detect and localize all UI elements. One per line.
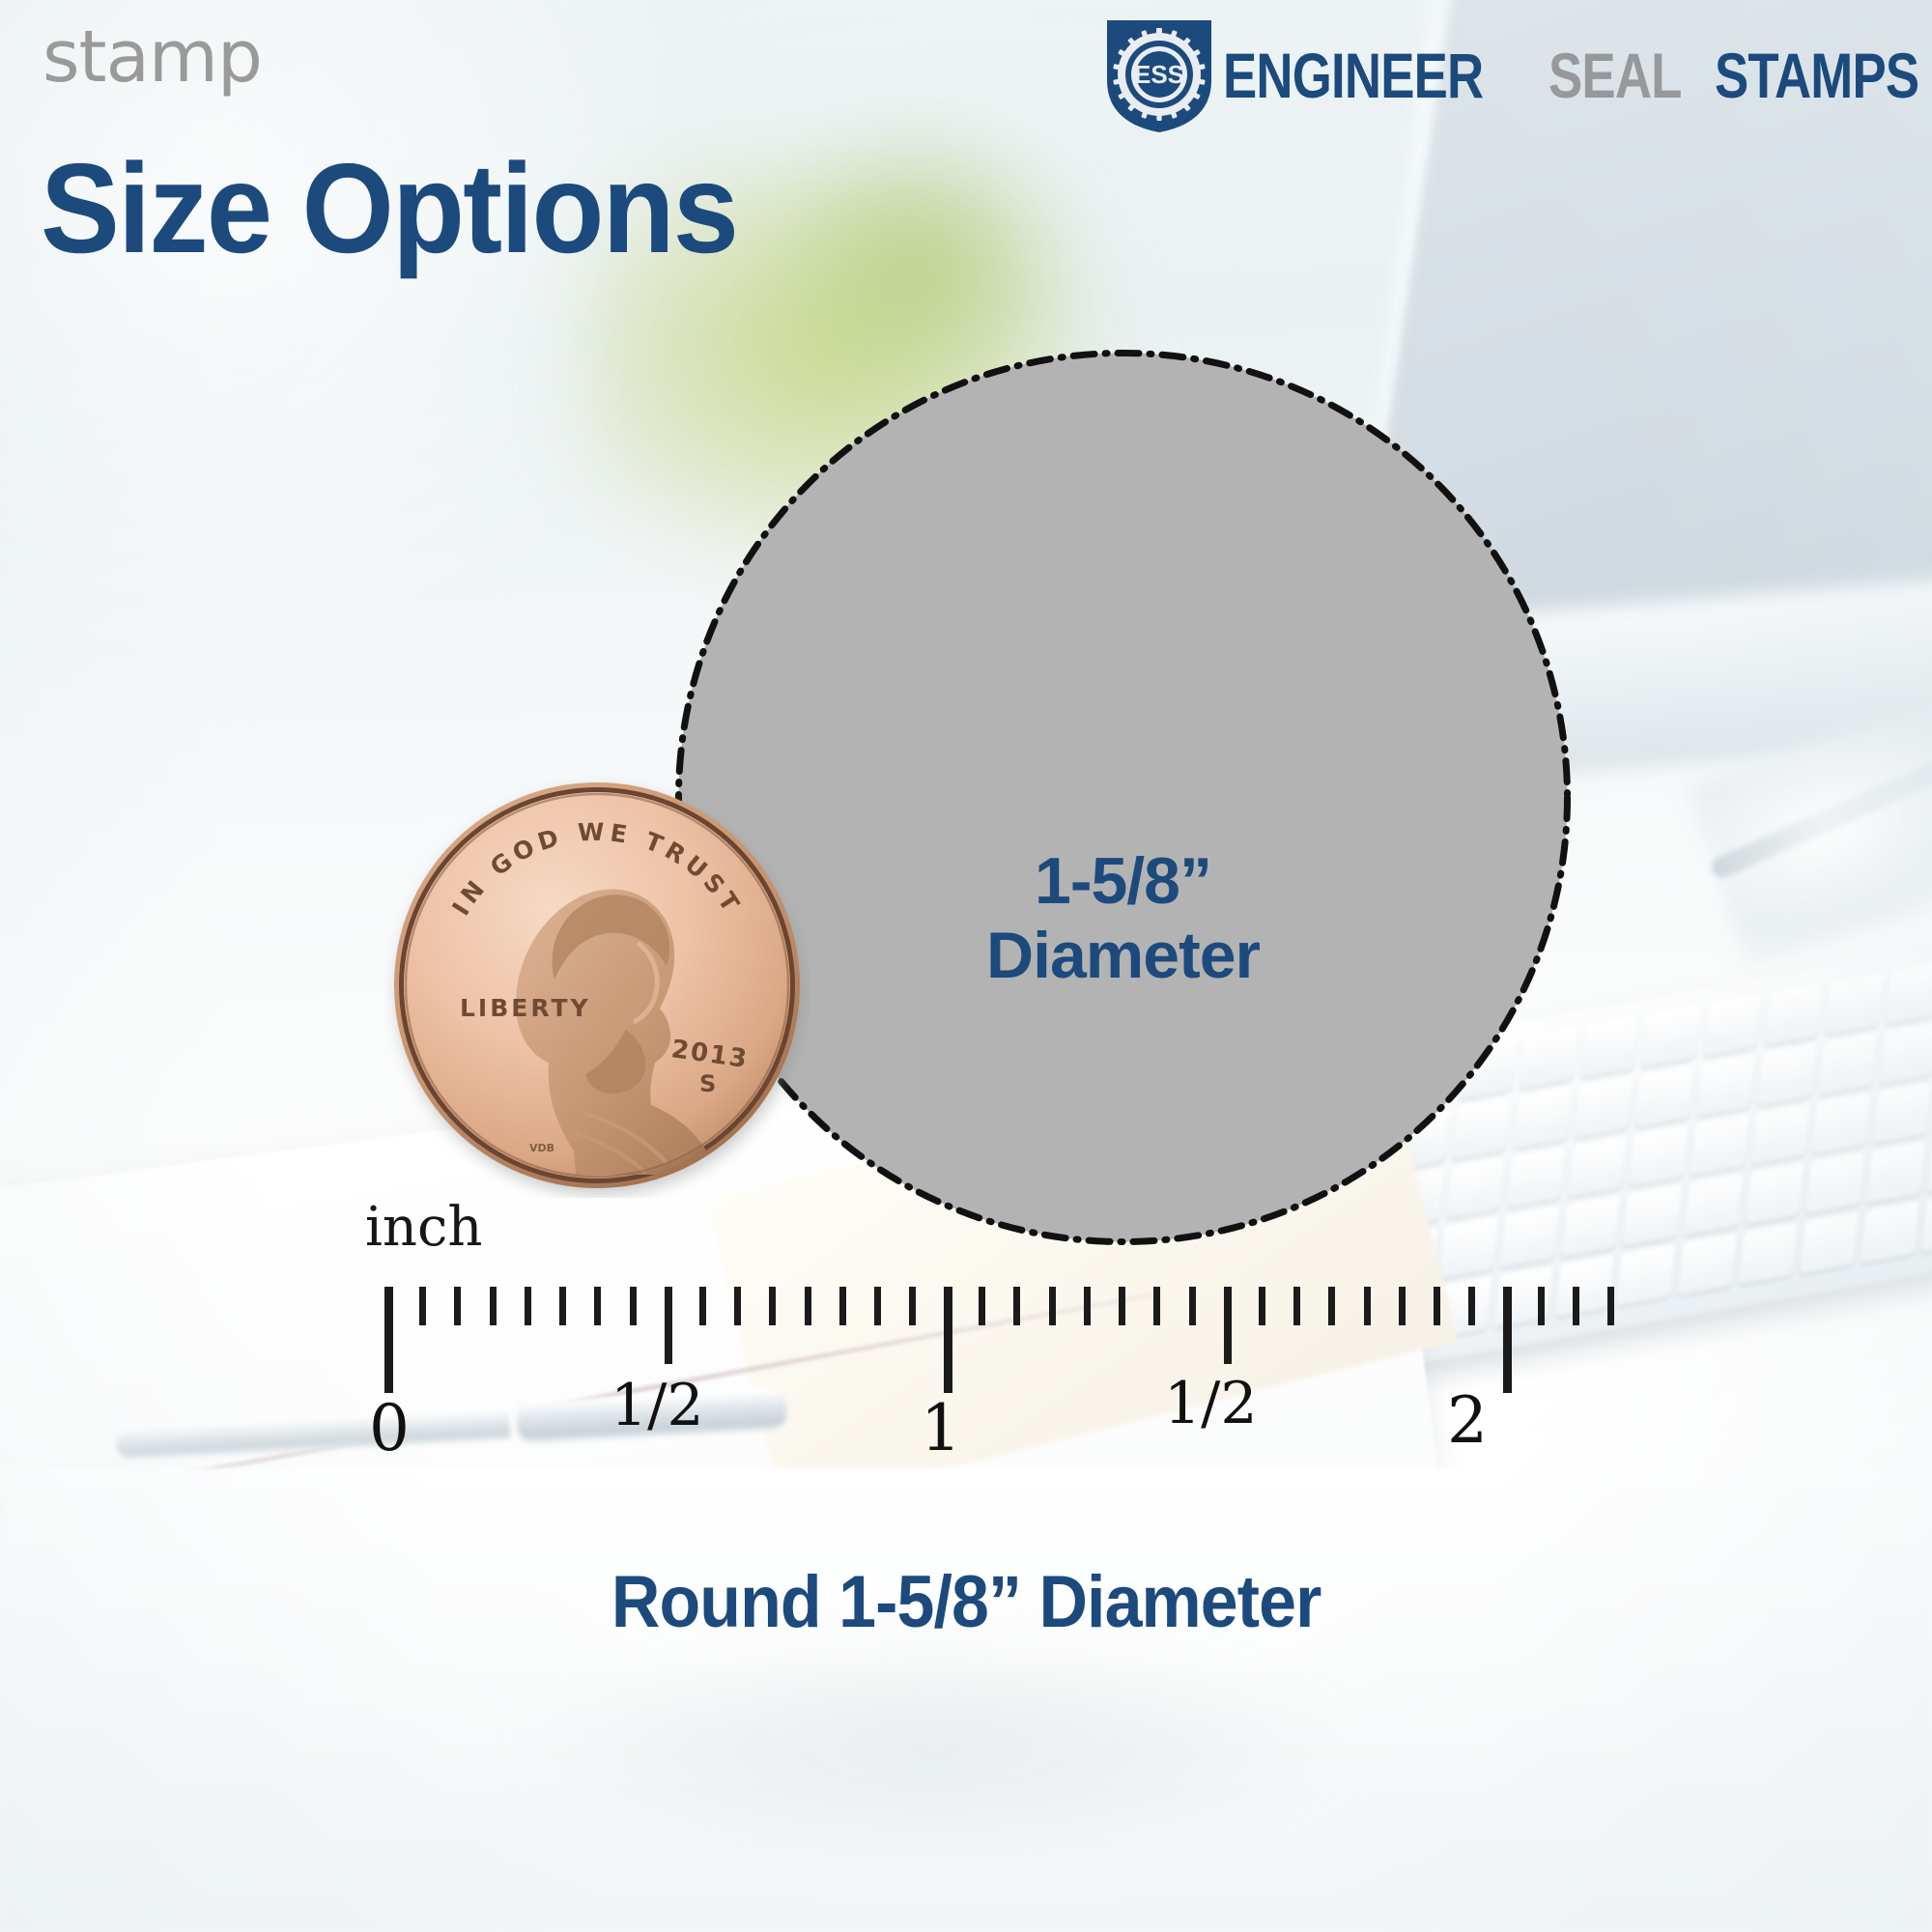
page-title: Size Options [41,145,737,272]
brand-word-engineer: ENGINEER [1223,46,1483,105]
eyebrow-label: stamp [43,21,262,93]
reference-penny-image: IN GOD WE TRUST LIBERTY 2013 S VDB [384,773,810,1198]
size-caption-text: Round 1-5/8” Diameter [611,1560,1321,1644]
brand-word-stamps: STAMPS [1715,46,1918,105]
size-options-graphic: stamp Size Options [0,0,1932,1932]
coin-mintmark-text: S [699,1070,716,1097]
ess-monogram: ESS [1134,60,1184,89]
coin-liberty-text: LIBERTY [460,994,591,1022]
brand-logo[interactable]: ESS ENGINEER SEAL STAMPS . C O M [1101,17,1932,133]
brand-word-seal: SEAL [1548,46,1682,105]
ess-shield-icon: ESS [1101,16,1217,134]
size-caption: Round 1-5/8” Diameter [0,1560,1932,1644]
brand-wordmark: ENGINEER SEAL STAMPS [1223,46,1932,105]
coin-designer-initials: VDB [529,1142,554,1154]
